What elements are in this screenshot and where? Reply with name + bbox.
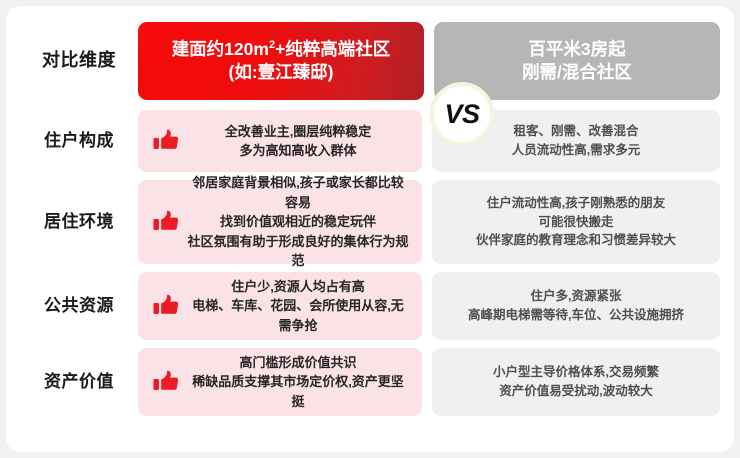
row-pro-cell: 住户少,资源人均占有高 电梯、车库、花园、会所使用从容,无需争抢: [138, 272, 422, 340]
row-con-text: 住户多,资源紧张 高峰期电梯需等待,车位、公共设施拥挤: [444, 287, 708, 325]
column-header-pro-text: 建面约120m2+纯粹高端社区 (如:壹江臻邸): [172, 38, 391, 84]
table-header-row: 对比维度 建面约120m2+纯粹高端社区 (如:壹江臻邸) 百平米3房起 刚需/…: [20, 22, 720, 100]
thumbs-up-icon: [146, 370, 186, 394]
row-dimension-cell: 公共资源: [20, 272, 138, 340]
column-header-pro-line1: 建面约120m: [172, 39, 269, 59]
dimension-header-label: 对比维度: [42, 50, 116, 72]
thumbs-up-icon: [146, 210, 186, 234]
column-header-pro-line2: (如:壹江臻邸): [229, 62, 334, 82]
row-dimension-cell: 居住环境: [20, 180, 138, 264]
table-row: 资产价值 高门槛形成价值共识 稀缺品质支撑其市场定价权,资产更坚挺 小户型主导价…: [20, 348, 720, 416]
row-dimension-label: 居住环境: [44, 212, 114, 232]
thumbs-up-icon: [146, 294, 186, 318]
row-con-text: 小户型主导价格体系,交易频繁 资产价值易受扰动,波动较大: [444, 363, 708, 401]
row-dimension-cell: 资产价值: [20, 348, 138, 416]
column-header-pro-line1-tail: +纯粹高端社区: [275, 39, 390, 59]
column-header-con-line1: 百平米3房起: [528, 39, 625, 59]
row-con-cell: 住户多,资源紧张 高峰期电梯需等待,车位、公共设施拥挤: [432, 272, 720, 340]
table-row: 公共资源 住户少,资源人均占有高 电梯、车库、花园、会所使用从容,无需争抢 住户…: [20, 272, 720, 340]
row-dimension-label: 资产价值: [44, 372, 114, 392]
row-pro-cell: 全改善业主,圈层纯粹稳定 多为高知高收入群体: [138, 110, 422, 172]
row-pro-text: 高门槛形成价值共识 稀缺品质支撑其市场定价权,资产更坚挺: [186, 353, 410, 412]
row-dimension-label: 公共资源: [44, 296, 114, 316]
row-pro-text: 邻居家庭背景相似,孩子或家长都比较容易 找到价值观相近的稳定玩伴 社区氛围有助于…: [186, 173, 410, 271]
row-dimension-cell: 住户构成: [20, 110, 138, 172]
row-con-cell: 住户流动性高,孩子刚熟悉的朋友 可能很快搬走 伙伴家庭的教育理念和习惯差异较大: [432, 180, 720, 264]
comparison-card: 对比维度 建面约120m2+纯粹高端社区 (如:壹江臻邸) 百平米3房起 刚需/…: [6, 6, 734, 452]
table-row: 居住环境 邻居家庭背景相似,孩子或家长都比较容易 找到价值观相近的稳定玩伴 社区…: [20, 180, 720, 264]
row-pro-cell: 高门槛形成价值共识 稀缺品质支撑其市场定价权,资产更坚挺: [138, 348, 422, 416]
dimension-header-cell: 对比维度: [20, 22, 138, 100]
row-pro-cell: 邻居家庭背景相似,孩子或家长都比较容易 找到价值观相近的稳定玩伴 社区氛围有助于…: [138, 180, 422, 264]
row-pro-text: 全改善业主,圈层纯粹稳定 多为高知高收入群体: [186, 122, 410, 161]
vs-badge-label: VS: [444, 99, 479, 130]
row-dimension-label: 住户构成: [44, 131, 114, 151]
vs-badge: VS: [430, 82, 494, 146]
row-con-cell: 小户型主导价格体系,交易频繁 资产价值易受扰动,波动较大: [432, 348, 720, 416]
column-header-pro: 建面约120m2+纯粹高端社区 (如:壹江臻邸): [138, 22, 424, 100]
column-header-con-line2: 刚需/混合社区: [522, 62, 632, 82]
row-con-text: 住户流动性高,孩子刚熟悉的朋友 可能很快搬走 伙伴家庭的教育理念和习惯差异较大: [444, 194, 708, 250]
comparison-table: 对比维度 建面约120m2+纯粹高端社区 (如:壹江臻邸) 百平米3房起 刚需/…: [6, 6, 734, 452]
row-pro-text: 住户少,资源人均占有高 电梯、车库、花园、会所使用从容,无需争抢: [186, 277, 410, 336]
table-row: 住户构成 全改善业主,圈层纯粹稳定 多为高知高收入群体 租客、刚需、改善混合 人…: [20, 110, 720, 172]
column-header-con-text: 百平米3房起 刚需/混合社区: [522, 38, 632, 84]
thumbs-up-icon: [146, 129, 186, 153]
